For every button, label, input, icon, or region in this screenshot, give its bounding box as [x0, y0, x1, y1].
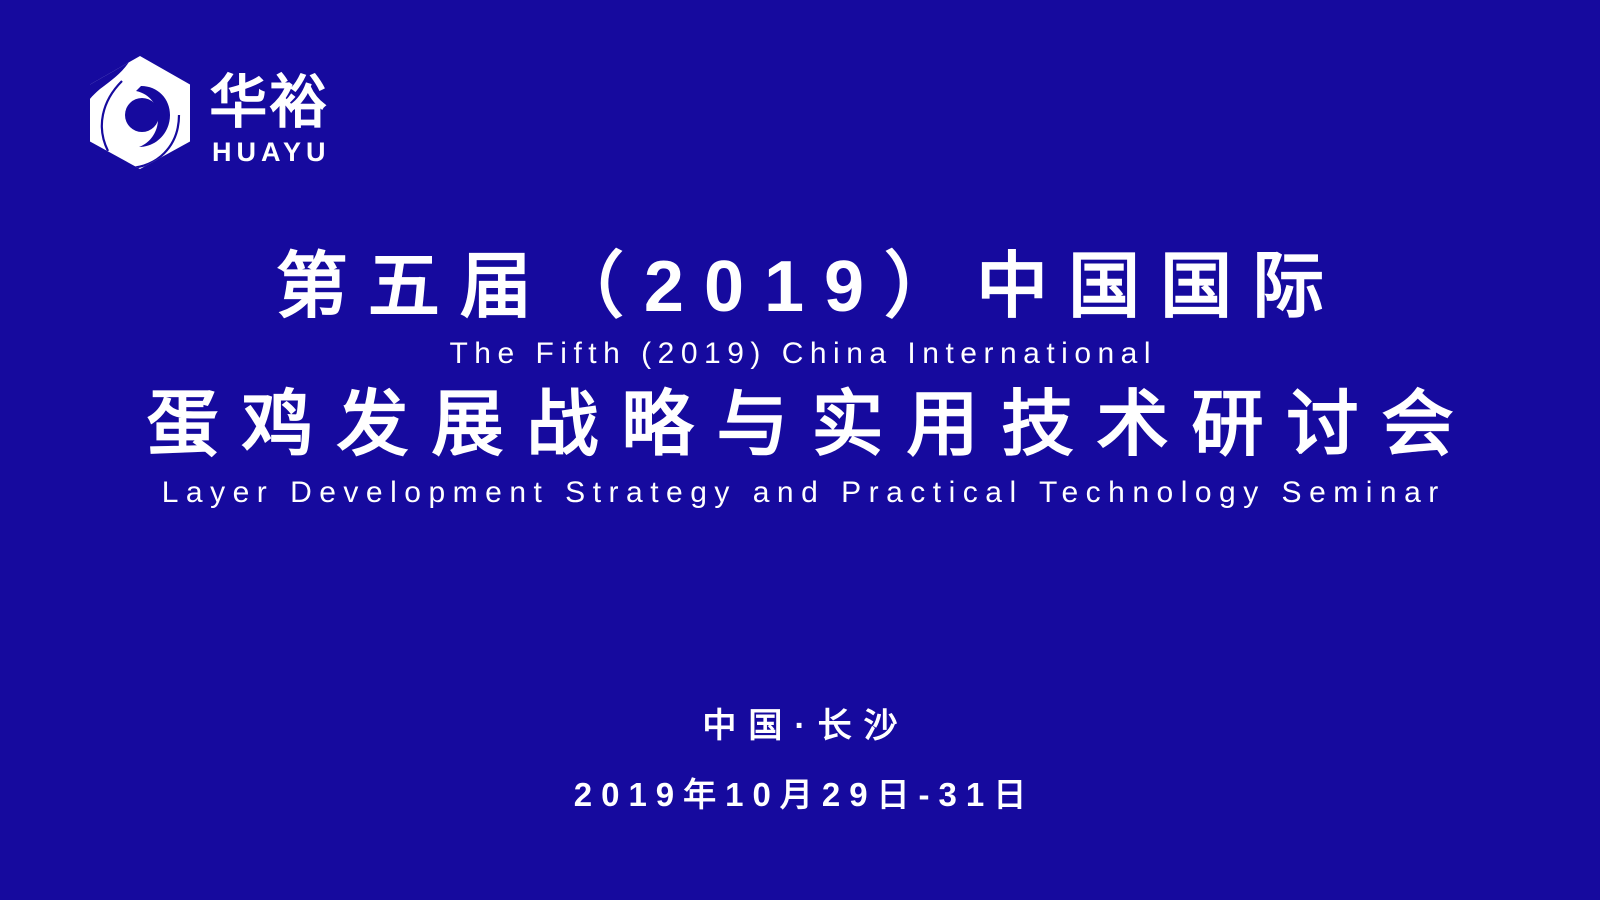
event-venue: 中国·长沙: [0, 706, 1600, 747]
title-line2-en: Layer Development Strategy and Practical…: [0, 475, 1600, 511]
conference-banner: 华裕 HUAYU 第五届（2019）中国国际 The Fifth (2019) …: [0, 0, 1600, 900]
title-line1-en: The Fifth (2019) China International: [0, 336, 1600, 372]
title-line2-cn: 蛋鸡发展战略与实用技术研讨会: [0, 384, 1600, 468]
huayu-hexagon-swirl-logo-icon: [86, 55, 194, 170]
event-details-block: 中国·长沙 2019年10月29日-31日: [0, 706, 1600, 814]
brand-wordmark: 华裕 HUAYU: [208, 60, 331, 166]
title-line1-cn: 第五届（2019）中国国际: [0, 246, 1600, 330]
event-dates: 2019年10月29日-31日: [0, 775, 1600, 815]
event-title-block: 第五届（2019）中国国际 The Fifth (2019) China Int…: [0, 246, 1600, 511]
brand-name-cn: 华裕: [209, 74, 329, 132]
brand-name-en: HUAYU: [212, 139, 331, 166]
brand-logo-lockup: 华裕 HUAYU: [86, 55, 331, 170]
